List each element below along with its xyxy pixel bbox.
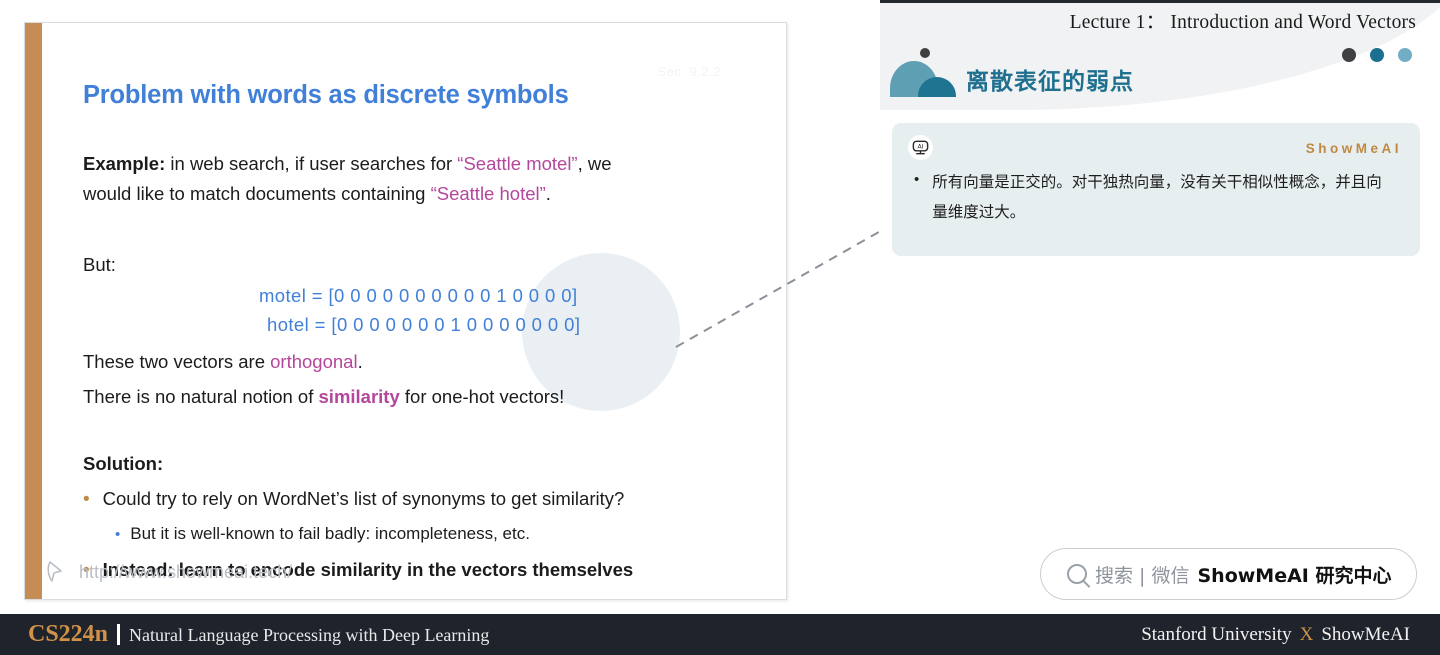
orthogonal-line: These two vectors are orthogonal. — [83, 348, 363, 375]
wechat-search-pill[interactable]: 搜索 | 微信 ShowMeAI 研究中心 — [1040, 548, 1417, 600]
search-prefix-text: 搜索 | 微信 — [1095, 561, 1189, 588]
similarity-line: There is no natural notion of similarity… — [83, 383, 564, 410]
footer-bar: CS224n Natural Language Processing with … — [0, 614, 1440, 655]
partner-name: ShowMeAI — [1321, 624, 1410, 646]
course-name: Natural Language Processing with Deep Le… — [129, 625, 489, 646]
similarity-text-c: for one-hot vectors! — [400, 386, 565, 407]
example-label: Example: — [83, 153, 165, 174]
example-line-1: Example: in web search, if user searches… — [83, 150, 612, 177]
note-brand-label: ShowMeAI — [1306, 141, 1402, 156]
course-code: CS224n — [28, 621, 108, 648]
orthogonal-text-c: . — [358, 351, 363, 372]
query-seattle-hotel: “Seattle hotel” — [431, 183, 546, 204]
university-name: Stanford University — [1141, 624, 1291, 646]
header-dot-1 — [1342, 48, 1356, 62]
note-card: AI ShowMeAI • 所有向量是正交的。对干独热向量，没有关干相似性概念，… — [892, 123, 1420, 256]
panel-heading: 离散表征的弱点 — [966, 62, 1134, 96]
example-line-2: would like to match documents containing… — [83, 180, 551, 207]
slide-content: Sec. 9.2.2 Problem with words as discret… — [83, 23, 783, 599]
slide-url-row[interactable]: http://www.showmeai.tech/ — [44, 559, 292, 585]
lecture-title: Lecture 1： Introduction and Word Vectors — [1070, 5, 1416, 34]
search-icon — [1067, 564, 1087, 584]
footer-separator — [117, 624, 120, 645]
bullet-dot-icon: • — [914, 167, 919, 193]
example-text-e: . — [546, 183, 551, 204]
lecture-slide[interactable]: Sec. 9.2.2 Problem with words as discret… — [24, 22, 787, 600]
but-label: But: — [83, 251, 116, 278]
footer-left-group: CS224n Natural Language Processing with … — [28, 621, 489, 648]
similarity-text-a: There is no natural notion of — [83, 386, 319, 407]
notes-panel: Lecture 1： Introduction and Word Vectors… — [880, 0, 1440, 614]
orthogonal-text-a: These two vectors are — [83, 351, 270, 372]
panel-top-divider — [880, 0, 1440, 3]
slide-url-text: http://www.showmeai.tech/ — [79, 562, 292, 583]
orthogonal-keyword: orthogonal — [270, 351, 357, 372]
slide-area: Sec. 9.2.2 Problem with words as discret… — [0, 0, 880, 614]
cursor-pointer-icon — [44, 559, 70, 585]
footer-right-group: Stanford University X ShowMeAI — [1141, 624, 1410, 646]
solution-bullet-1: • Could try to rely on WordNet’s list of… — [83, 488, 624, 510]
bullet-dot-icon: • — [115, 527, 120, 542]
vector-hotel: hotel = [0 0 0 0 0 0 0 1 0 0 0 0 0 0 0] — [267, 314, 580, 336]
solution-heading: Solution: — [83, 453, 163, 475]
search-brand-text: ShowMeAI 研究中心 — [1197, 561, 1391, 588]
similarity-keyword: similarity — [319, 386, 400, 407]
bullet-1-text: Could try to rely on WordNet’s list of s… — [103, 488, 625, 510]
example-text-d: would like to match documents containing — [83, 183, 431, 204]
vector-motel: motel = [0 0 0 0 0 0 0 0 0 0 1 0 0 0 0] — [259, 285, 578, 307]
example-text-a: in web search, if user searches for — [165, 153, 457, 174]
header-dot-3 — [1398, 48, 1412, 62]
svg-text:AI: AI — [917, 143, 923, 150]
heading-decoration — [890, 48, 960, 98]
header-dot-2 — [1370, 48, 1384, 62]
header-dots — [1342, 48, 1412, 62]
dot-icon — [920, 48, 930, 58]
bullet-dot-icon: • — [83, 490, 90, 509]
ai-robot-icon: AI — [908, 135, 933, 160]
solution-bullet-2: • But it is well-known to fail badly: in… — [115, 524, 530, 544]
note-bullet-text: 所有向量是正交的。对干独热向量，没有关干相似性概念，并且向量维度过大。 — [932, 167, 1384, 227]
example-text-c: , we — [578, 153, 612, 174]
bullet-2-text: But it is well-known to fail badly: inco… — [130, 524, 530, 544]
query-seattle-motel: “Seattle motel” — [457, 153, 577, 174]
note-bullet-item: • 所有向量是正交的。对干独热向量，没有关干相似性概念，并且向量维度过大。 — [914, 167, 1406, 227]
slide-title: Problem with words as discrete symbols — [83, 81, 569, 110]
cross-symbol: X — [1300, 624, 1314, 646]
slide-viewer-page: Sec. 9.2.2 Problem with words as discret… — [0, 0, 1440, 655]
section-label: Sec. 9.2.2 — [657, 64, 721, 79]
slide-accent-bar — [25, 23, 42, 599]
